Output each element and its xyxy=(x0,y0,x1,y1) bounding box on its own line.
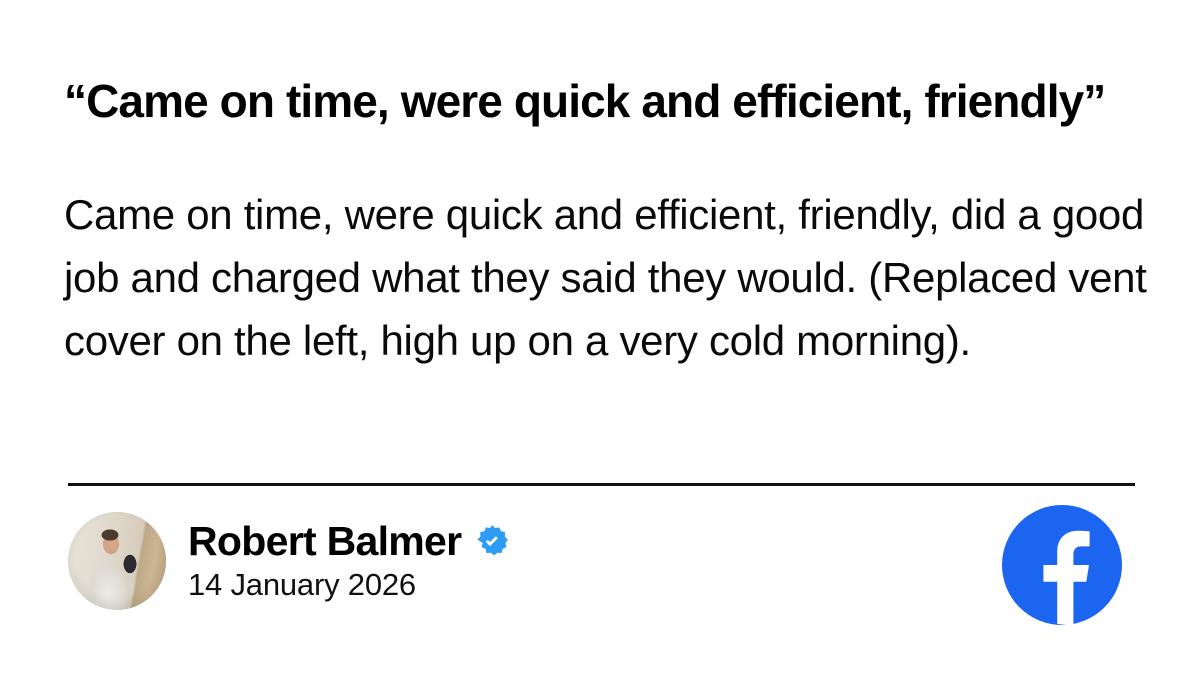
author-name: Robert Balmer xyxy=(188,520,461,563)
divider xyxy=(68,483,1135,486)
review-footer: Robert Balmer 14 January 2026 xyxy=(64,505,1136,630)
facebook-logo-icon xyxy=(1002,505,1122,625)
review-date: 14 January 2026 xyxy=(188,567,509,603)
author-name-row: Robert Balmer xyxy=(188,520,509,563)
author-text: Robert Balmer 14 January 2026 xyxy=(188,520,509,603)
review-body-text: Came on time, were quick and efficient, … xyxy=(64,183,1149,372)
avatar xyxy=(68,512,166,610)
review-headline: “Came on time, were quick and efficient,… xyxy=(64,75,1144,128)
avatar-vignette xyxy=(68,512,166,610)
author-block: Robert Balmer 14 January 2026 xyxy=(68,512,509,610)
review-card: “Came on time, were quick and efficient,… xyxy=(0,0,1200,675)
verified-badge-icon xyxy=(475,524,509,558)
